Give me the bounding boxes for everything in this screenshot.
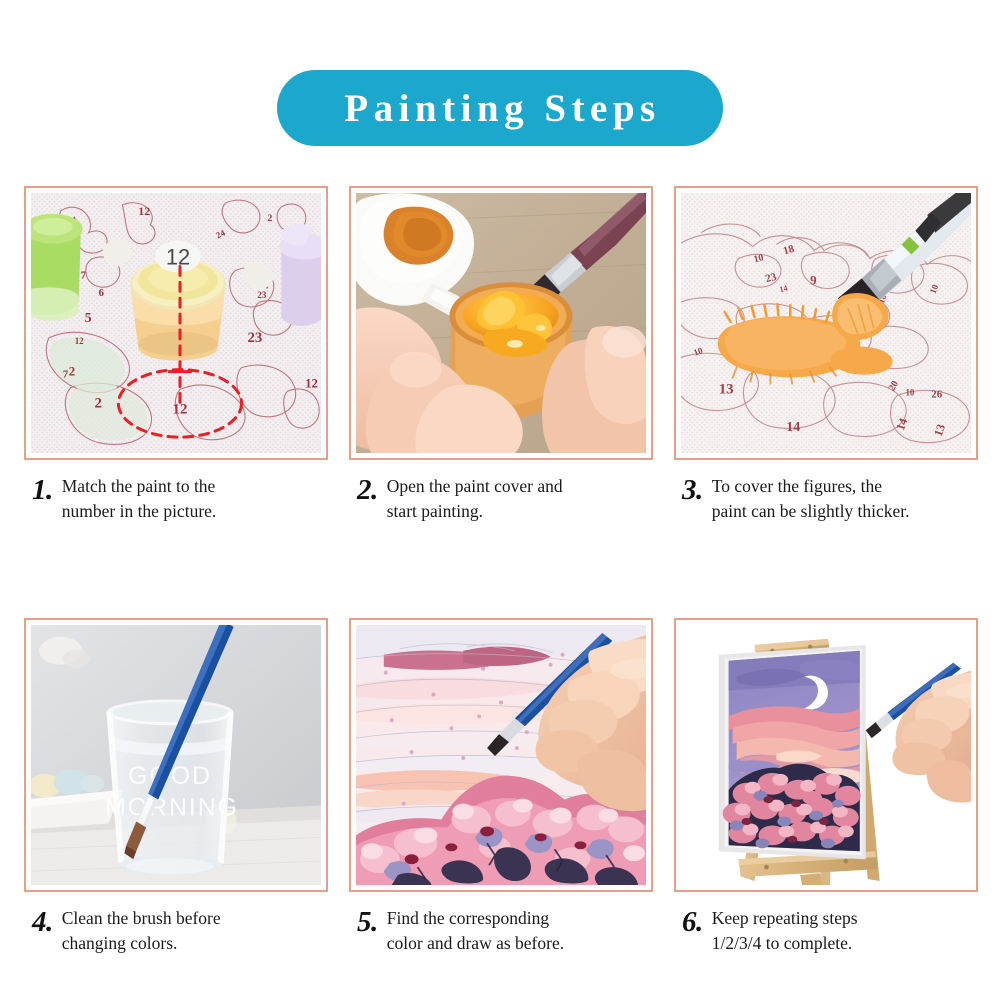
painting-cherry-blossom-photo [356, 625, 646, 885]
svg-text:12: 12 [138, 204, 150, 218]
step-4-number: 4. [32, 906, 53, 937]
step-card-1: 12 24 2 24 7 6 5 12 7 2 2 23 24 [24, 186, 328, 524]
step-4-text: Clean the brush before changing colors. [62, 906, 221, 956]
finished-painting-on-easel-photo [681, 625, 971, 885]
svg-text:12: 12 [166, 244, 190, 269]
svg-text:23: 23 [248, 330, 263, 346]
step-card-6: 6. Keep repeating steps 1/2/3/4 to compl… [674, 618, 978, 956]
step-2-image-frame [349, 186, 653, 460]
svg-text:2: 2 [267, 213, 272, 224]
step-6-text: Keep repeating steps 1/2/3/4 to complete… [712, 906, 858, 956]
step-4-caption: 4. Clean the brush before changing color… [24, 906, 328, 956]
step-3-number: 3. [682, 474, 703, 505]
step-1-image-frame: 12 24 2 24 7 6 5 12 7 2 2 23 24 [24, 186, 328, 460]
steps-grid: 12 24 2 24 7 6 5 12 7 2 2 23 24 [24, 186, 978, 956]
step-1-number: 1. [32, 474, 53, 505]
svg-text:7: 7 [81, 269, 87, 281]
step-2-text: Open the paint cover and start painting. [387, 474, 563, 524]
brush-painting-canvas-photo: 10 18 23 14 9 20 10 10 10 20 13 14 [681, 193, 971, 453]
svg-text:26: 26 [931, 388, 942, 400]
step-2-number: 2. [357, 474, 378, 505]
page-title: Painting Steps [339, 89, 660, 128]
svg-text:12: 12 [173, 401, 188, 417]
svg-text:2: 2 [95, 395, 102, 411]
svg-text:14: 14 [786, 420, 800, 435]
glass-text-line-2: MORNING [105, 795, 239, 822]
step-3-image-frame: 10 18 23 14 9 20 10 10 10 20 13 14 [674, 186, 978, 460]
page-header: Painting Steps [0, 70, 1000, 146]
step-6-number: 6. [682, 906, 703, 937]
step-5-text: Find the corresponding color and draw as… [387, 906, 564, 956]
step-2-caption: 2. Open the paint cover and start painti… [349, 474, 653, 524]
steps-row-2: GOOD MORNING [24, 618, 978, 956]
step-5-number: 5. [357, 906, 378, 937]
brush-in-water-glass-photo: GOOD MORNING [31, 625, 321, 885]
step-1-text: Match the paint to the number in the pic… [62, 474, 217, 524]
svg-text:6: 6 [99, 287, 105, 299]
svg-text:2: 2 [69, 365, 75, 379]
step-5-image-frame [349, 618, 653, 892]
step-1-caption: 1. Match the paint to the number in the … [24, 474, 328, 524]
svg-text:5: 5 [85, 311, 92, 326]
step-card-3: 10 18 23 14 9 20 10 10 10 20 13 14 [674, 186, 978, 524]
svg-text:10: 10 [905, 387, 914, 397]
step-card-4: GOOD MORNING [24, 618, 328, 956]
svg-text:12: 12 [305, 377, 318, 391]
svg-text:12: 12 [75, 336, 84, 346]
svg-text:13: 13 [719, 381, 734, 397]
open-paint-pot-with-brush-photo [356, 193, 646, 453]
title-pill: Painting Steps [277, 70, 723, 146]
step-6-caption: 6. Keep repeating steps 1/2/3/4 to compl… [674, 906, 978, 956]
step-5-caption: 5. Find the corresponding color and draw… [349, 906, 653, 956]
step-6-image-frame [674, 618, 978, 892]
svg-text:23: 23 [257, 290, 266, 300]
steps-row-1: 12 24 2 24 7 6 5 12 7 2 2 23 24 [24, 186, 978, 524]
step-card-2: 2. Open the paint cover and start painti… [349, 186, 653, 524]
step-card-5: 5. Find the corresponding color and draw… [349, 618, 653, 956]
step-4-image-frame: GOOD MORNING [24, 618, 328, 892]
step-3-text: To cover the figures, the paint can be s… [712, 474, 910, 524]
svg-text:9: 9 [810, 273, 816, 287]
paint-pot-matching-number-photo: 12 24 2 24 7 6 5 12 7 2 2 23 24 [31, 193, 321, 453]
step-3-caption: 3. To cover the figures, the paint can b… [674, 474, 978, 524]
